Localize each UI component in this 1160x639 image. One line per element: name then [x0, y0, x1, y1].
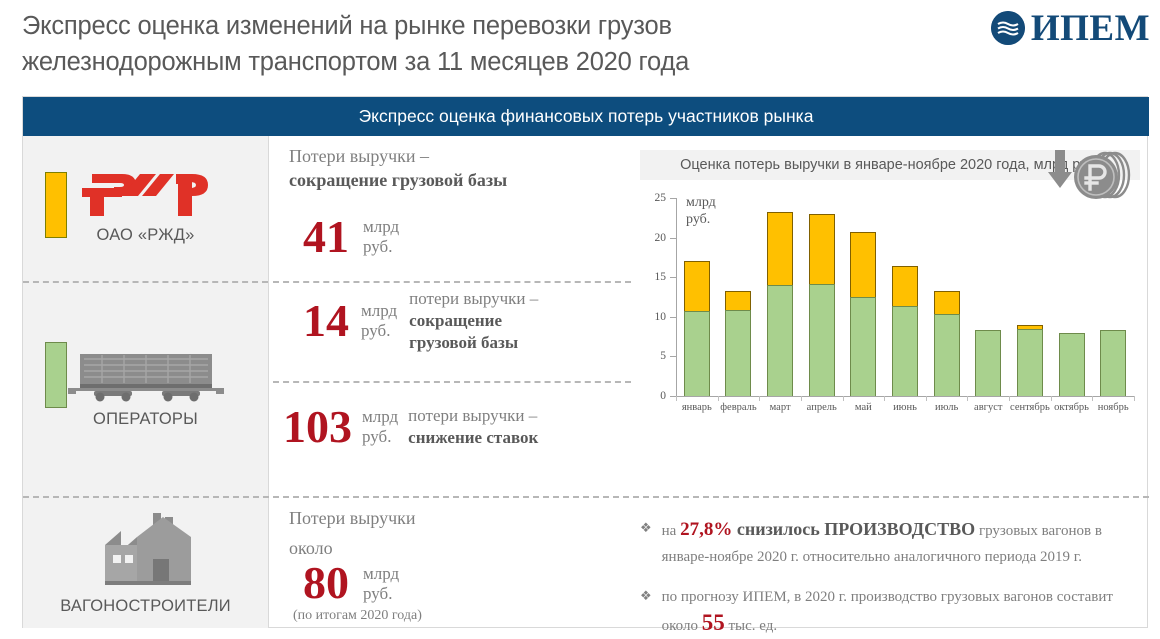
stat-op1-note-line-1: потери выручки –	[409, 289, 538, 308]
chart-bar-segment-green	[725, 310, 751, 396]
stats-column: Потери выручки – сокращение грузовой баз…	[269, 136, 631, 628]
participant-operators: ОПЕРАТОРЫ	[23, 282, 268, 496]
chart-y-tick-0: 0	[660, 390, 666, 402]
stat-builders-unit-line-1: млрд	[363, 564, 399, 583]
bullet-span-hi-red-lg: 55	[702, 610, 725, 635]
bullet-diamond-icon: ❖	[640, 584, 652, 639]
stat-builders-approx-text: около	[289, 538, 333, 558]
chart-x-tickmark-end	[1134, 396, 1135, 401]
stat-rzd-value: 41	[303, 214, 349, 260]
chart-bar-6	[934, 291, 960, 396]
chart-y-tickmark-10	[670, 317, 676, 318]
chart-bar-0	[684, 261, 710, 396]
chart-bar-1	[725, 291, 751, 396]
page-title-line-2: железнодорожным транспортом за 11 месяце…	[22, 44, 902, 80]
chart-x-tickmark-1	[718, 396, 719, 401]
chart-y-tick-20: 20	[655, 232, 667, 244]
chart-x-label-2: март	[770, 402, 791, 413]
bullet-span-plain: тыс. ед.	[725, 618, 777, 634]
stat-op2-unit-line-2: руб.	[362, 427, 391, 446]
stat-rzd-heading: Потери выручки – сокращение грузовой баз…	[289, 144, 631, 192]
chart-x-tickmark-10	[1092, 396, 1093, 401]
chart-bar-segment-yellow	[767, 212, 793, 285]
participant-rzd: ОАО «РЖД»	[23, 136, 268, 281]
ipem-logo: ИПЕМ	[991, 10, 1150, 46]
chart-x-tickmark-3	[801, 396, 802, 401]
chart-x-tickmark-8	[1009, 396, 1010, 401]
factory-icon	[91, 511, 201, 589]
chart-y-tickmark-15	[670, 277, 676, 278]
chart-x-axis	[676, 396, 1134, 397]
chart-x-label-7: август	[974, 402, 1002, 413]
bullet-diamond-icon: ❖	[640, 516, 652, 570]
stat-op1-unit-line-2: руб.	[361, 321, 390, 340]
chart-bar-segment-green	[684, 311, 710, 396]
chart-bar-9	[1059, 333, 1085, 396]
stat-op1-note: потери выручки – сокращение грузовой баз…	[409, 288, 538, 354]
stat-rzd-heading-line-2: сокращение грузовой базы	[289, 170, 507, 190]
stat-op1-unit: млрд руб.	[361, 301, 397, 341]
chart-bar-segment-green	[809, 284, 835, 396]
ipem-circle-wave-logo-icon	[991, 11, 1025, 45]
chart-y-axis	[676, 198, 677, 396]
chart-bar-segment-green	[892, 306, 918, 396]
chart-bar-segment-green	[1059, 333, 1085, 396]
participants-column: ОАО «РЖД»	[23, 136, 268, 628]
participant-builders-label: ВАГОНОСТРОИТЕЛИ	[60, 597, 231, 616]
stat-builders-value: 80	[303, 560, 349, 606]
chart-plot-area: млрд руб. 0510152025 январьфевральмартап…	[640, 198, 1140, 448]
chart-y-tick-5: 5	[660, 350, 666, 362]
chart-x-label-6: июль	[935, 402, 958, 413]
stat-op2-row: 103 млрд руб. потери выручки – снижение …	[283, 404, 631, 450]
stat-op1-unit-line-1: млрд	[361, 301, 397, 320]
stat-block-operators-rates: 103 млрд руб. потери выручки – снижение …	[269, 404, 631, 490]
bullet-span-hi-red: 27,8%	[680, 519, 732, 540]
chart-bar-segment-green	[1100, 330, 1126, 396]
stat-block-rzd-loss: Потери выручки – сокращение грузовой баз…	[269, 144, 631, 276]
chart-bar-5	[892, 266, 918, 396]
chart-bar-segment-green	[934, 314, 960, 396]
chart-x-label-0: январь	[682, 402, 712, 413]
ipem-logo-text: ИПЕМ	[1031, 10, 1150, 47]
stat-op1-note-line-3: грузовой базы	[409, 333, 518, 352]
page-title-line-1: Экспресс оценка изменений на рынке перев…	[22, 8, 902, 44]
chart-y-tick-25: 25	[655, 192, 667, 204]
chart-bar-segment-green	[975, 330, 1001, 396]
stat-op1-value: 14	[303, 298, 349, 344]
stat-rzd-unit: млрд руб.	[363, 217, 399, 257]
chart-x-tickmark-5	[884, 396, 885, 401]
builders-bullet-list: ❖на 27,8% снизилось ПРОИЗВОДСТВО грузовы…	[632, 500, 1149, 628]
chart-bar-segment-green	[1017, 329, 1043, 396]
stat-block-operators-base: 14 млрд руб. потери выручки – сокращение…	[269, 288, 631, 376]
chart-bar-2	[767, 212, 793, 396]
stat-builders-value-row: 80 млрд руб.	[289, 560, 631, 606]
chart-x-tickmark-4	[843, 396, 844, 401]
chart-axis-unit-line-2: руб.	[686, 212, 710, 227]
chart-x-label-8: сентябрь	[1010, 402, 1050, 413]
chart-x-label-5: июнь	[893, 402, 917, 413]
chart-bar-segment-yellow	[892, 266, 918, 306]
participant-builders: ВАГОНОСТРОИТЕЛИ	[23, 498, 268, 628]
stat-builders-heading: Потери выручки	[289, 506, 631, 530]
chart-x-label-1: февраль	[720, 402, 756, 413]
chart-x-tickmark-2	[759, 396, 760, 401]
main-panel: Экспресс оценка финансовых потерь участн…	[22, 96, 1148, 628]
stat-op1-note-line-2: сокращение	[409, 311, 502, 330]
stat-rzd-value-row: 41 млрд руб.	[289, 214, 631, 260]
chart-bar-segment-green	[767, 285, 793, 396]
stat-rzd-unit-line-2: руб.	[363, 237, 392, 256]
chart-bar-3	[809, 214, 835, 396]
bullet-text-0: на 27,8% снизилось ПРОИЗВОДСТВО грузовых…	[662, 516, 1139, 570]
chart-bar-7	[975, 330, 1001, 396]
chart-axis-unit-line-1: млрд	[686, 195, 716, 210]
stat-builders-unit-line-2: руб.	[363, 584, 392, 603]
chart-bar-segment-yellow	[934, 291, 960, 313]
stat-op1-row: 14 млрд руб. потери выручки – сокращение…	[289, 288, 631, 354]
document-header: Экспресс оценка изменений на рынке перев…	[0, 0, 1160, 92]
bullet-item-0: ❖на 27,8% снизилось ПРОИЗВОДСТВО грузовы…	[640, 516, 1139, 570]
section-banner: Экспресс оценка финансовых потерь участн…	[23, 97, 1149, 136]
chart-y-tick-15: 15	[655, 271, 667, 283]
chart-axis-unit: млрд руб.	[686, 194, 716, 228]
chart-x-label-3: апрель	[807, 402, 837, 413]
freight-gondola-wagon-icon	[66, 350, 226, 402]
chart-bar-segment-yellow	[850, 232, 876, 297]
stat-op2-note-line-1: потери выручки –	[408, 406, 537, 425]
chart-x-tickmark-6	[926, 396, 927, 401]
chart-y-tickmark-5	[670, 356, 676, 357]
stat-rzd-unit-line-1: млрд	[363, 217, 399, 236]
section-banner-text: Экспресс оценка финансовых потерь участн…	[359, 106, 814, 127]
stat-builders-footnote: (по итогам 2020 года)	[289, 608, 631, 624]
participant-operators-label: ОПЕРАТОРЫ	[93, 410, 198, 429]
chart-x-label-4: май	[855, 402, 872, 413]
stat-op2-note-line-2: снижение ставок	[408, 428, 538, 447]
chart-bar-segment-yellow	[809, 214, 835, 284]
bullet-item-1: ❖по прогнозу ИПЕМ, в 2020 г. производств…	[640, 584, 1139, 639]
chart-x-label-9: октябрь	[1054, 402, 1089, 413]
stat-block-builders-loss: Потери выручки около 80 млрд руб. (по ит…	[269, 506, 631, 626]
page-title: Экспресс оценка изменений на рынке перев…	[22, 8, 902, 80]
participant-rzd-label: ОАО «РЖД»	[97, 226, 195, 245]
bullet-span-hi-dark: снизилось ПРОИЗВОДСТВО	[732, 519, 975, 539]
chart-y-tick-10: 10	[655, 311, 667, 323]
chart-y-tickmark-20	[670, 238, 676, 239]
chart-x-tickmark-7	[967, 396, 968, 401]
panel-body: ОАО «РЖД»	[23, 136, 1149, 628]
bullet-span-plain: на	[662, 523, 680, 539]
chart-x-label-10: ноябрь	[1098, 402, 1129, 413]
stat-op2-value: 103	[283, 404, 352, 450]
chart-bar-segment-yellow	[684, 261, 710, 312]
stat-builders-heading-line-1: Потери выручки	[289, 508, 416, 528]
chart-bar-4	[850, 232, 876, 396]
chart-region: Оценка потерь выручки в январе-ноябре 20…	[632, 136, 1149, 496]
stat-op2-note: потери выручки – снижение ставок	[408, 405, 538, 449]
bullet-text-1: по прогнозу ИПЕМ, в 2020 г. производство…	[662, 584, 1139, 639]
divider-left-1	[23, 281, 268, 283]
stat-builders-unit: млрд руб.	[363, 560, 399, 604]
chart-x-tickmark-0	[676, 396, 677, 401]
stat-op2-unit: млрд руб.	[362, 407, 398, 447]
rzd-logo-icon	[80, 172, 212, 218]
stat-rzd-heading-line-1: Потери выручки –	[289, 146, 429, 166]
chart-x-tickmark-9	[1051, 396, 1052, 401]
stat-op2-unit-line-1: млрд	[362, 407, 398, 426]
chart-bar-8	[1017, 325, 1043, 396]
chart-bar-segment-yellow	[725, 291, 751, 310]
chart-bar-segment-green	[850, 297, 876, 396]
chart-bar-10	[1100, 330, 1126, 396]
chart-y-tickmark-25	[670, 198, 676, 199]
